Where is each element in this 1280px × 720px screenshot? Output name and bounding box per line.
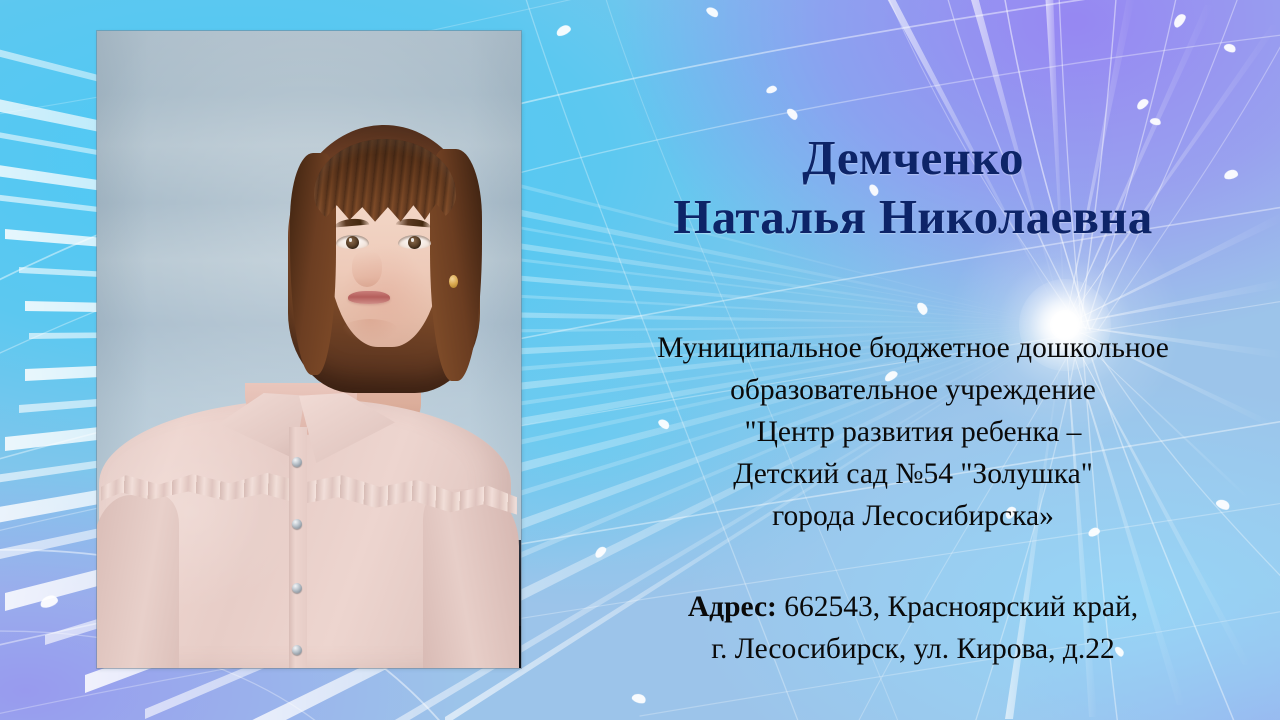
nose-shape (352, 251, 382, 287)
address-block: Адрес: 662543, Красноярский край, г. Лес… (546, 586, 1280, 670)
blouse-button (292, 519, 302, 529)
portrait-photo (97, 31, 521, 668)
organization-line: Детский сад №54 "Золушка" (546, 453, 1280, 495)
head-group (296, 123, 472, 395)
organization-line: "Центр развития ребенка – (546, 411, 1280, 453)
iris-right (408, 236, 421, 249)
organization-line: образовательное учреждение (546, 369, 1280, 411)
organization-line: города Лесосибирска» (546, 495, 1280, 537)
blouse-button (292, 457, 302, 467)
torso-group (97, 383, 521, 668)
text-panel: Демченко Наталья Николаевна Муниципально… (546, 0, 1280, 720)
iris-left (346, 236, 359, 249)
address-line-1-value: 662543, Красноярский край, (784, 591, 1138, 623)
chin-shadow (342, 319, 398, 341)
blouse-button (292, 645, 302, 655)
organization-line: Муниципальное бюджетное дошкольное (546, 327, 1280, 369)
blouse-sleeve-left (97, 495, 179, 668)
person-name-block: Демченко Наталья Николаевна (546, 128, 1280, 246)
address-label: Адрес: (688, 591, 777, 623)
blouse-button (292, 583, 302, 593)
person-surname: Демченко (546, 128, 1280, 187)
eye-left (336, 235, 369, 249)
address-line-1: Адрес: 662543, Красноярский край, (546, 586, 1280, 628)
address-line-2: г. Лесосибирск, ул. Кирова, д.22 (546, 628, 1280, 670)
eye-right (398, 235, 431, 249)
earring-shape (449, 275, 458, 288)
slide-canvas: Демченко Наталья Николаевна Муниципально… (0, 0, 1280, 720)
person-given-patronymic: Наталья Николаевна (546, 187, 1280, 246)
organization-block: Муниципальное бюджетное дошкольное образ… (546, 327, 1280, 537)
mouth-shape (348, 291, 390, 304)
blouse-sleeve-right (423, 489, 519, 668)
